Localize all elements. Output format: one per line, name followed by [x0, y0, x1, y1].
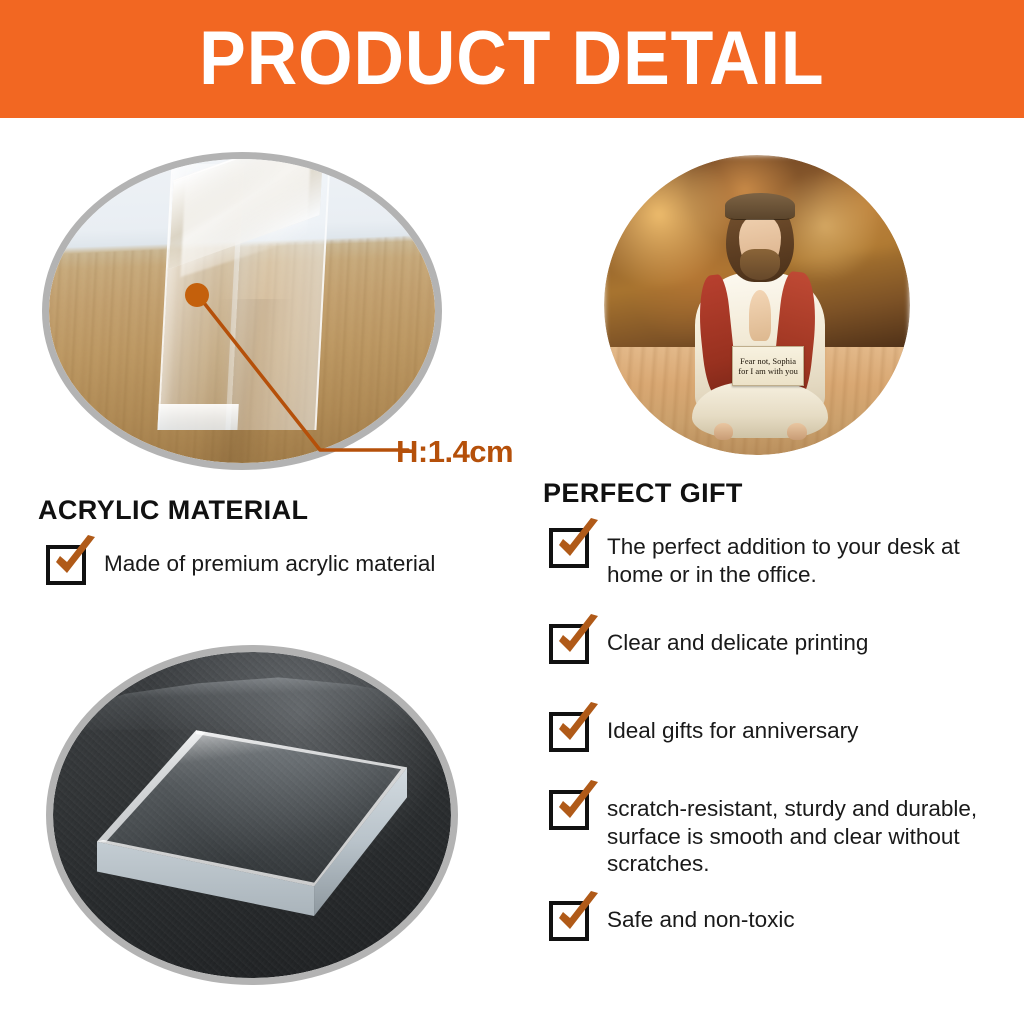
statue-foot-right — [787, 423, 807, 441]
photo-jesus-figurine: Fear not, Sophia for I am with you — [604, 155, 910, 455]
header-banner: PRODUCT DETAIL — [0, 0, 1024, 118]
feature-text: The perfect addition to your desk at hom… — [607, 528, 1019, 588]
photo-figurine-image: Fear not, Sophia for I am with you — [604, 155, 910, 455]
plaque-line-1: Fear not, Sophia — [740, 356, 796, 366]
feature-item: Safe and non-toxic — [549, 901, 795, 941]
section-heading-perfect-gift: PERFECT GIFT — [543, 478, 743, 509]
figurine-scene: Fear not, Sophia for I am with you — [604, 155, 910, 455]
jesus-statue: Fear not, Sophia for I am with you — [690, 188, 831, 443]
feature-text: scratch-resistant, sturdy and durable, s… — [607, 790, 1019, 878]
statue-plaque: Fear not, Sophia for I am with you — [732, 346, 804, 386]
feature-item: Made of premium acrylic material — [46, 545, 435, 585]
feature-text: Safe and non-toxic — [607, 901, 795, 934]
statue-praying-hands — [749, 290, 772, 341]
checkbox-checked-icon — [549, 790, 589, 830]
leader-line-icon — [150, 280, 410, 470]
photo-acrylic-block-on-slate — [46, 645, 458, 985]
checkbox-checked-icon — [549, 624, 589, 664]
checkbox-checked-icon — [549, 712, 589, 752]
feature-item: Clear and delicate printing — [549, 624, 868, 664]
feature-item: scratch-resistant, sturdy and durable, s… — [549, 790, 1019, 878]
callout-dot-icon — [185, 283, 209, 307]
statue-crown-of-thorns — [725, 193, 795, 219]
feature-item: The perfect addition to your desk at hom… — [549, 528, 1019, 588]
statue-crossed-legs — [692, 382, 827, 438]
acrylic-block-shape — [97, 730, 407, 916]
checkbox-checked-icon — [549, 901, 589, 941]
callout-label: H:1.4cm — [396, 434, 513, 470]
feature-item: Ideal gifts for anniversary — [549, 712, 858, 752]
page-title: PRODUCT DETAIL — [199, 21, 824, 97]
feature-text: Clear and delicate printing — [607, 624, 868, 657]
photo-acrylic-block-image — [53, 652, 451, 978]
plaque-line-2: for I am with you — [738, 366, 798, 376]
statue-foot-left — [714, 423, 734, 441]
feature-text: Made of premium acrylic material — [104, 545, 435, 578]
feature-text: Ideal gifts for anniversary — [607, 712, 858, 745]
section-heading-acrylic-material: ACRYLIC MATERIAL — [38, 495, 308, 526]
checkbox-checked-icon — [549, 528, 589, 568]
checkbox-checked-icon — [46, 545, 86, 585]
statue-beard — [740, 249, 779, 280]
